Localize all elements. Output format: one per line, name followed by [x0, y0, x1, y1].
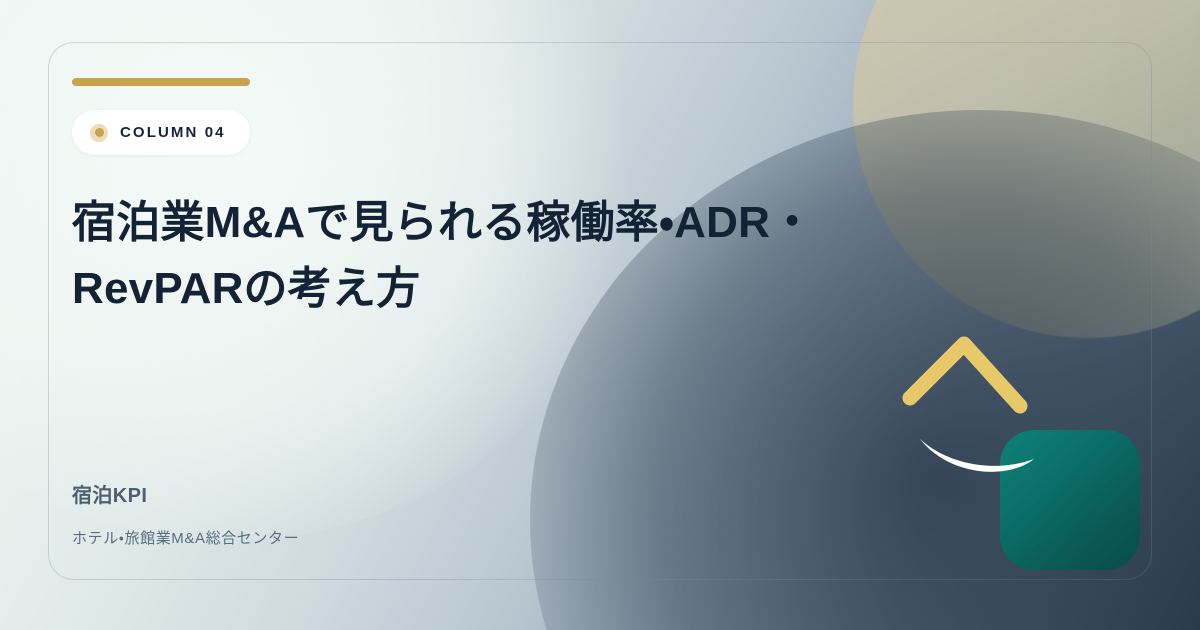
column-badge: COLUMN 04 [72, 110, 250, 155]
bullet-dot-icon [90, 124, 108, 142]
column-hero-banner: COLUMN 04 宿泊業M&Aで見られる稼働率・ADR・RevPARの考え方 … [0, 0, 1200, 630]
page-title: 宿泊業M&Aで見られる稼働率・ADR・RevPARの考え方 [72, 190, 952, 322]
footer-secondary-label: ホテル・旅館業M&A総合センター [72, 530, 772, 548]
column-badge-label: COLUMN 04 [120, 124, 226, 141]
rounded-square-icon [1000, 430, 1140, 570]
footer-primary-label: 宿泊KPI [72, 484, 772, 508]
accent-bar [72, 78, 250, 86]
hero-content: COLUMN 04 宿泊業M&Aで見られる稼働率・ADR・RevPARの考え方 … [72, 42, 972, 580]
hero-footer: 宿泊KPI ホテル・旅館業M&A総合センター [72, 484, 772, 548]
